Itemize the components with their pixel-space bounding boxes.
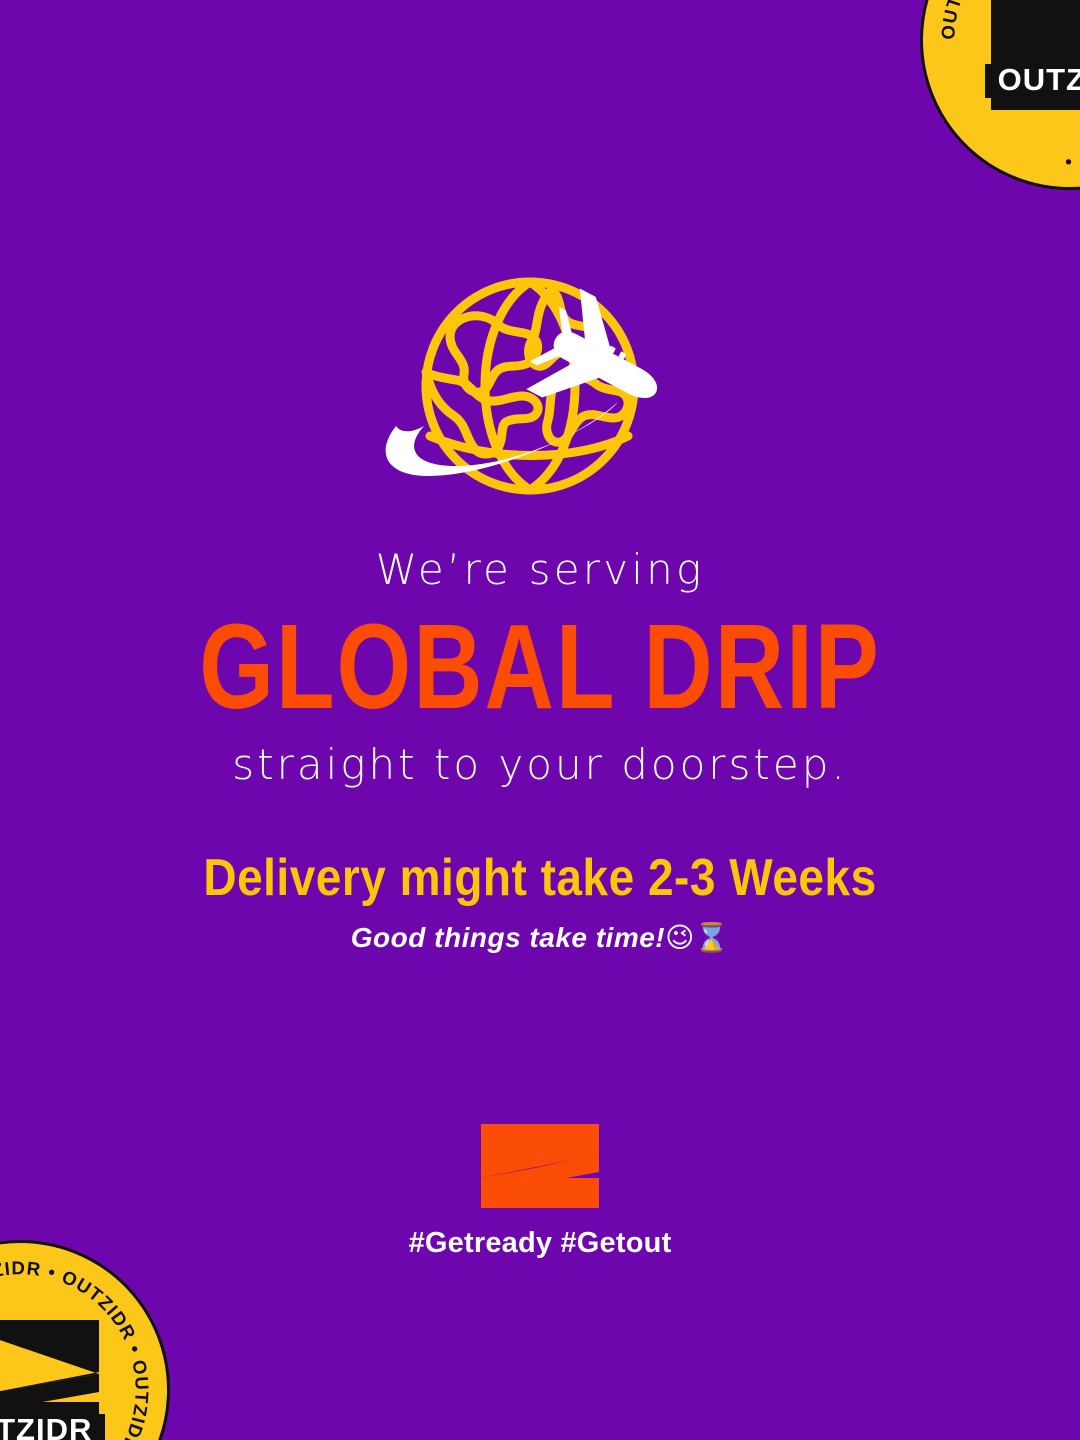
globe-airplane-icon [0, 276, 1080, 506]
outzidr-z-logo [479, 1122, 601, 1210]
hashtags-text: #Getready #Getout [0, 1227, 1080, 1260]
note-emoji: 😉⌛ [665, 921, 729, 954]
badge-z-mark-bottom-left: OUTZIDR [0, 1314, 109, 1440]
promo-poster: OUTZIDR • OUTZIDR • OUTZIDR • OUTZIDR • … [0, 0, 1080, 1440]
copy-block: We’re serving GLOBAL DRIP straight to yo… [0, 548, 1080, 954]
eyebrow-text: We’re serving [0, 548, 1080, 592]
headline-text: GLOBAL DRIP [0, 606, 1080, 729]
outzidr-stamp-badge-top-right: OUTZIDR • OUTZIDR • OUTZIDR • OUTZIDR • … [920, 0, 1080, 190]
badge-mark-label-bottom-left: OUTZIDR [0, 1412, 92, 1440]
delivery-note-text: Good things take time! [351, 922, 665, 953]
footer-block: #Getready #Getout [0, 1122, 1080, 1260]
badge-z-mark-top-right: OUTZIDR [981, 0, 1080, 116]
delivery-time-text: Delivery might take 2-3 Weeks [0, 847, 1080, 907]
outzidr-stamp-badge-bottom-left: OUTZIDR • OUTZIDR • OUTZIDR • OUTZIDR • … [0, 1240, 170, 1440]
delivery-note: Good things take time!😉⌛ [0, 921, 1080, 954]
subline-text: straight to your doorstep. [0, 740, 1080, 789]
badge-mark-label-top-right: OUTZIDR [998, 62, 1080, 97]
